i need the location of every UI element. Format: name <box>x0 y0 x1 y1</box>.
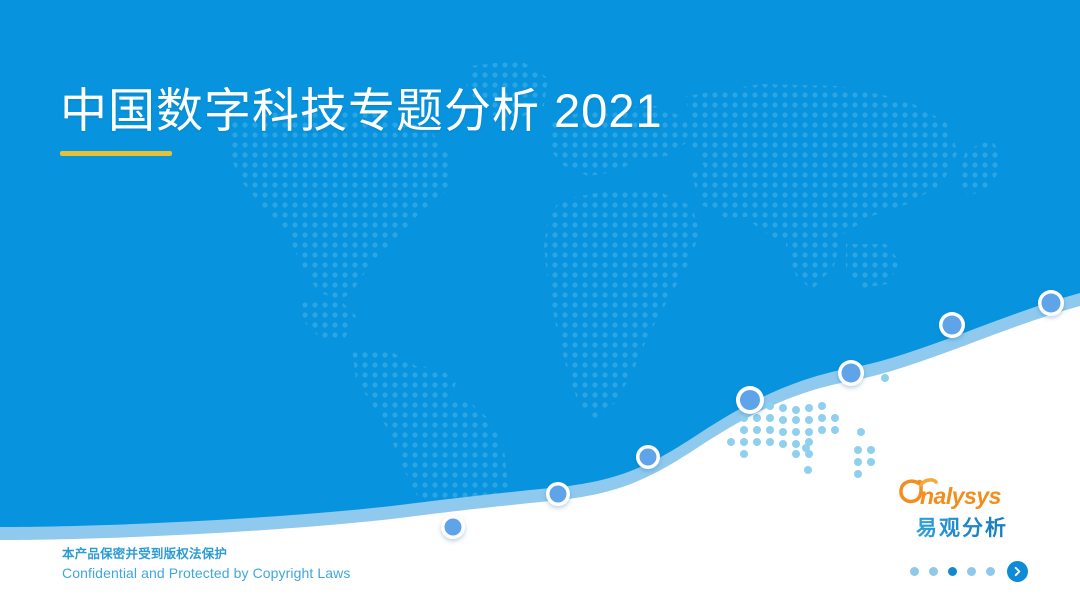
pager-dot-1[interactable] <box>910 567 919 576</box>
svg-text:nalysys: nalysys <box>920 483 1001 509</box>
analysys-chinese-name: 易观分析 <box>896 512 1028 542</box>
pager-dot-2[interactable] <box>929 567 938 576</box>
title-underline-accent <box>60 151 172 156</box>
title-slide: 中国数字科技专题分析 2021 本产品保密并受到版权法保护 Confidenti… <box>0 0 1080 608</box>
marker-4 <box>740 390 760 410</box>
pagination[interactable] <box>910 561 1028 582</box>
marker-5 <box>842 364 861 383</box>
confidential-note: 本产品保密并受到版权法保护 Confidential and Protected… <box>62 546 350 583</box>
chevron-right-icon <box>1012 566 1023 577</box>
marker-7 <box>1042 294 1061 313</box>
analysys-logo: nalysys 易观分析 <box>896 476 1028 546</box>
confidential-note-en: Confidential and Protected by Copyright … <box>62 563 350 583</box>
next-slide-button[interactable] <box>1007 561 1028 582</box>
marker-2 <box>550 486 567 503</box>
marker-3 <box>640 449 657 466</box>
pager-dot-3[interactable] <box>948 567 957 576</box>
confidential-note-cn: 本产品保密并受到版权法保护 <box>62 546 350 563</box>
title-block: 中国数字科技专题分析 2021 <box>60 86 880 156</box>
page-title: 中国数字科技专题分析 2021 <box>60 86 880 135</box>
marker-6 <box>943 316 962 335</box>
pager-dot-4[interactable] <box>967 567 976 576</box>
pager-dot-5[interactable] <box>986 567 995 576</box>
analysys-wordmark-icon: nalysys <box>896 476 1028 512</box>
marker-1 <box>445 519 462 536</box>
